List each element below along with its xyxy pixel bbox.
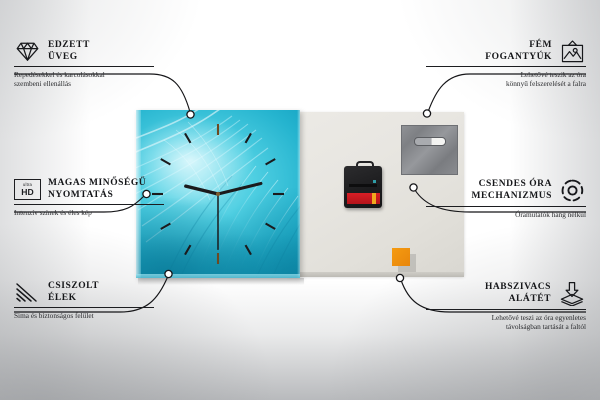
mechanism-indicator-dot — [373, 180, 376, 183]
polished-edge-icon — [14, 282, 41, 303]
ultra-hd-badge-icon: ultra HD — [14, 179, 41, 200]
callout-description: Intenzív színek és éles kép — [14, 208, 164, 217]
gear-icon — [559, 178, 586, 203]
diamond-icon — [14, 41, 41, 62]
callout-title: MAGAS MINŐSÉGŰ NYOMTATÁS — [48, 178, 146, 201]
callout-divider — [14, 204, 164, 205]
callout-tempered-glass[interactable]: EDZETT ÜVEG Repedésekkel és karcolásokka… — [14, 40, 154, 89]
infographic-canvas: EDZETT ÜVEG Repedésekkel és karcolásokka… — [0, 0, 600, 400]
callout-silent-mechanism[interactable]: CSENDES ÓRA MECHANIZMUS Óramutatók hang … — [426, 178, 586, 219]
callout-title: CSENDES ÓRA MECHANIZMUS — [472, 179, 552, 202]
callout-metal-handles[interactable]: FÉM FOGANTYÚK Lehetővé teszik az óra kön… — [426, 40, 586, 89]
callout-title: EDZETT ÜVEG — [48, 40, 90, 63]
clock-minute-hand — [218, 184, 261, 195]
callout-divider — [426, 66, 586, 67]
callout-high-quality-print[interactable]: ultra HD MAGAS MINŐSÉGŰ NYOMTATÁS Intenz… — [14, 178, 164, 217]
foam-layers-arrow-icon — [558, 281, 586, 306]
callout-title: CSISZOLT ÉLEK — [48, 281, 99, 304]
mechanism-label-marker — [372, 193, 376, 204]
product-back-panel-bottom — [288, 272, 464, 277]
glass-right-edge-highlight — [297, 110, 300, 278]
metal-hanger-bracket — [401, 125, 458, 175]
callout-description: Lehetővé teszik az óra könnyű felszerelé… — [426, 70, 586, 89]
callout-description: Lehetővé teszi az óra egyenletes távolsá… — [426, 313, 586, 332]
callout-title: FÉM FOGANTYÚK — [485, 40, 552, 63]
picture-frame-hanger-icon — [559, 40, 586, 63]
callout-divider — [426, 206, 586, 207]
callout-title: HABSZIVACS ALÁTÉT — [485, 282, 551, 305]
callout-polished-edges[interactable]: CSISZOLT ÉLEK Sima és biztonságos felüle… — [14, 281, 154, 320]
product-photo — [136, 110, 464, 278]
foam-pad — [392, 248, 410, 266]
ultra-hd-main-text: HD — [21, 188, 33, 197]
product-drop-shadow — [138, 278, 304, 285]
hanger-keyhole-slot — [414, 137, 446, 146]
callout-description: Óramutatók hang nélkül — [426, 210, 586, 219]
callout-description: Repedésekkel és karcolásokkal szembeni e… — [14, 70, 154, 89]
callout-foam-backing[interactable]: HABSZIVACS ALÁTÉT Lehetővé teszi az óra … — [426, 281, 586, 332]
clock-center-hub — [216, 192, 220, 196]
mechanism-battery-slot — [349, 184, 377, 187]
callout-description: Sima és biztonságos felület — [14, 311, 154, 320]
clock-hour-hand — [186, 186, 218, 194]
callout-divider — [426, 309, 586, 310]
callout-divider — [14, 66, 154, 67]
callout-divider — [14, 307, 154, 308]
